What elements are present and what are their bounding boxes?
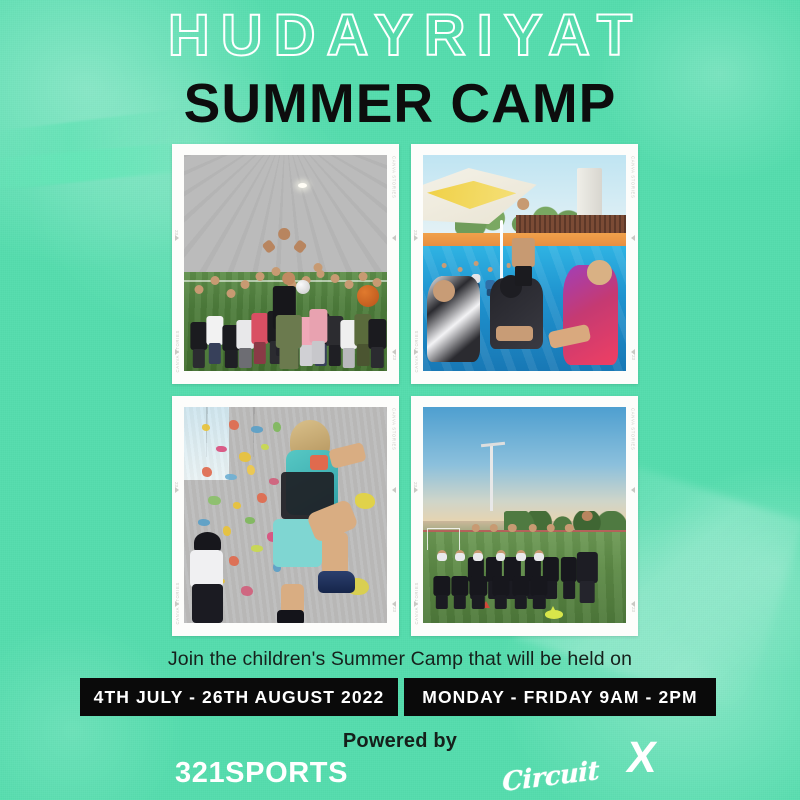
person-head: [528, 524, 536, 532]
person-torso: [275, 315, 301, 347]
climber-strap: [310, 455, 328, 470]
person-head: [506, 263, 511, 268]
person-torso: [451, 576, 468, 596]
climbing-hold: [208, 496, 220, 506]
person-head: [490, 524, 498, 532]
person-head: [441, 263, 446, 268]
seated-boy-legs: [496, 326, 533, 341]
photo-frame-2[interactable]: CANVA STORIES CANVA STORIES 23 23: [411, 144, 638, 384]
person-figure: [310, 263, 327, 362]
face-mask-icon: [516, 553, 526, 561]
climbing-hold: [245, 517, 255, 523]
climbing-hold: [251, 426, 263, 432]
climbing-hold: [257, 493, 267, 503]
person-legs: [343, 348, 355, 369]
frame-edge-number-right: 23: [631, 355, 636, 360]
person-legs: [563, 581, 575, 599]
person-figure: [206, 276, 223, 362]
climbing-hold: [198, 519, 210, 525]
photo-rock-climbing-wall: [184, 407, 387, 623]
frame-edge-number-left: 23: [174, 230, 179, 235]
player-figure-front-row: [451, 550, 468, 608]
person-legs: [472, 595, 484, 609]
triangle-marker-right-icon: [631, 487, 635, 493]
person-figure: [251, 272, 268, 363]
frame-edge-label-left: CANVA STORIES: [175, 330, 180, 372]
training-disc-yellow: [545, 610, 563, 619]
person-legs: [371, 347, 383, 368]
basketball-icon: [357, 285, 379, 307]
face-mask-icon: [496, 553, 506, 561]
photo-frame-3[interactable]: CANVA STORIES CANVA STORIES 23 23: [172, 396, 399, 636]
triangle-marker-left-icon: [175, 487, 179, 493]
person-head: [547, 524, 555, 532]
person-head: [344, 280, 353, 289]
person-head: [518, 198, 530, 210]
person-head: [241, 280, 250, 289]
triangle-marker-left-icon: [175, 235, 179, 241]
camp-hours-badge: MONDAY - FRIDAY 9AM - 2PM: [404, 678, 716, 716]
photo-indoor-dome-football-kids: [184, 155, 387, 371]
frame-edge-number-right: 23: [631, 607, 636, 612]
triangle-marker-left-lower-icon: [175, 349, 179, 355]
person-legs: [225, 350, 237, 369]
person-head: [373, 278, 382, 287]
climbing-hold: [261, 444, 269, 450]
triangle-marker-left-icon: [414, 487, 418, 493]
face-mask-icon: [437, 553, 447, 561]
photo-frame-1[interactable]: CANVA STORIES CANVA STORIES 23 23: [172, 144, 399, 384]
camp-tagline: Join the children's Summer Camp that wil…: [0, 648, 800, 671]
person-torso: [512, 238, 534, 267]
person-legs: [329, 345, 341, 367]
person-legs: [279, 346, 298, 369]
climbing-hold: [216, 446, 226, 452]
frame-edge-label-right: CANVA STORIES: [631, 408, 636, 450]
person-torso: [310, 309, 327, 343]
triangle-marker-left-icon: [414, 235, 418, 241]
frame-edge-number-right: 23: [392, 355, 397, 360]
person-head: [458, 267, 463, 272]
player-figure-front-row: [470, 550, 487, 608]
poster-header: HUDAYRIYAT SUMMER CAMP: [0, 0, 800, 132]
triangle-marker-right-icon: [392, 487, 396, 493]
person-head: [330, 274, 339, 283]
climbing-hold-large: [355, 493, 375, 508]
standing-boy-figure: [512, 198, 534, 284]
triangle-marker-right-icon: [631, 235, 635, 241]
second-climber-shirt: [190, 550, 222, 589]
poster-canvas: HUDAYRIYAT SUMMER CAMP CANVA STORIES CAN…: [0, 0, 800, 800]
player-figure-front-row: [512, 550, 529, 608]
person-head: [474, 261, 479, 266]
person-legs: [454, 595, 466, 609]
page-title-solid: SUMMER CAMP: [0, 74, 800, 132]
photo-splash-pad-water-play: [423, 155, 626, 371]
person-torso: [470, 576, 487, 596]
person-head: [565, 524, 573, 532]
climbing-hold: [239, 452, 251, 462]
person-legs: [515, 266, 531, 287]
circuitx-x-mark: X: [624, 736, 660, 780]
person-legs: [357, 344, 369, 366]
person-legs: [580, 581, 595, 603]
page-title-outline: HUDAYRIYAT: [0, 4, 800, 68]
player-figure-front-row: [492, 550, 509, 608]
person-torso: [369, 319, 386, 349]
triangle-marker-right-icon: [392, 235, 396, 241]
climbing-hold: [202, 424, 210, 430]
seated-girl-head: [587, 260, 611, 284]
person-head: [488, 267, 493, 272]
camp-dates-badge: 4TH JULY - 26TH AUGUST 2022: [80, 678, 398, 716]
triangle-marker-left-lower-icon: [414, 349, 418, 355]
frame-edge-number-right: 23: [392, 607, 397, 612]
photo-frame-4[interactable]: CANVA STORIES CANVA STORIES 23 23: [411, 396, 638, 636]
person-torso: [433, 576, 450, 596]
climbing-hold: [223, 526, 231, 536]
brand-circuitx-logo: Circuit X: [502, 740, 662, 796]
person-torso: [206, 316, 223, 345]
brand-321sports-logo: 321SPORTS: [175, 757, 348, 790]
schedule-bars: 4TH JULY - 26TH AUGUST 2022 MONDAY - FRI…: [80, 678, 716, 716]
person-head: [227, 289, 236, 298]
person-head: [472, 524, 480, 532]
photo-gallery-grid: CANVA STORIES CANVA STORIES 23 23 CANVA …: [172, 144, 638, 640]
climbing-hold: [225, 474, 237, 480]
frame-edge-label-right: CANVA STORIES: [392, 156, 397, 198]
powered-by-label: Powered by: [0, 730, 800, 753]
circuitx-script-word: Circuit: [502, 756, 599, 798]
person-legs: [494, 595, 506, 609]
frame-edge-label-left: CANVA STORIES: [175, 582, 180, 624]
person-legs: [193, 349, 205, 369]
person-head: [582, 511, 593, 522]
climber-shoe-second: [277, 610, 303, 623]
person-head: [359, 272, 368, 281]
player-figure-front-row: [433, 550, 450, 608]
person-legs: [209, 343, 221, 364]
climbing-hold: [247, 465, 255, 475]
person-torso: [190, 322, 207, 350]
person-head: [255, 272, 264, 281]
face-mask-icon: [455, 553, 465, 561]
person-head: [210, 276, 219, 285]
triangle-marker-left-lower-icon: [175, 601, 179, 607]
person-legs: [436, 595, 448, 609]
person-legs: [533, 595, 545, 609]
photo-football-team-dusk: [423, 407, 626, 623]
climber-shoe: [318, 571, 355, 593]
face-mask-icon: [473, 553, 483, 561]
person-legs: [515, 595, 527, 609]
second-climber-pants: [192, 584, 222, 623]
climbing-hold: [229, 556, 239, 566]
person-head: [194, 285, 203, 294]
frame-edge-number-left: 23: [413, 230, 418, 235]
climbing-hold: [233, 502, 241, 508]
frame-edge-label-right: CANVA STORIES: [631, 156, 636, 198]
frame-edge-number-left: 23: [174, 482, 179, 487]
person-legs: [312, 341, 324, 365]
person-torso: [531, 576, 548, 596]
person-torso: [512, 576, 529, 596]
person-head: [279, 228, 291, 240]
person-head: [282, 272, 296, 286]
person-torso: [561, 557, 577, 582]
person-legs: [253, 342, 265, 364]
person-torso: [251, 313, 268, 344]
person-head: [508, 524, 516, 532]
climbing-hold: [229, 420, 239, 430]
frame-edge-label-left: CANVA STORIES: [414, 330, 419, 372]
person-legs: [239, 348, 251, 369]
triangle-marker-left-lower-icon: [414, 601, 418, 607]
frame-edge-label-right: CANVA STORIES: [392, 408, 397, 450]
face-mask-icon: [534, 553, 544, 561]
player-figure-back-row: [561, 524, 577, 597]
frame-edge-number-left: 23: [413, 482, 418, 487]
climbing-hold: [269, 478, 279, 484]
player-figure-front-row: [531, 550, 548, 608]
coach-figure: [577, 511, 597, 602]
person-torso: [577, 552, 597, 583]
camo-child-figure: [275, 272, 301, 367]
person-torso: [492, 576, 509, 596]
climbing-hold: [241, 586, 253, 596]
person-figure: [190, 285, 207, 367]
frame-edge-label-left: CANVA STORIES: [414, 582, 419, 624]
person-head: [314, 263, 323, 272]
climbing-hold: [251, 545, 263, 551]
